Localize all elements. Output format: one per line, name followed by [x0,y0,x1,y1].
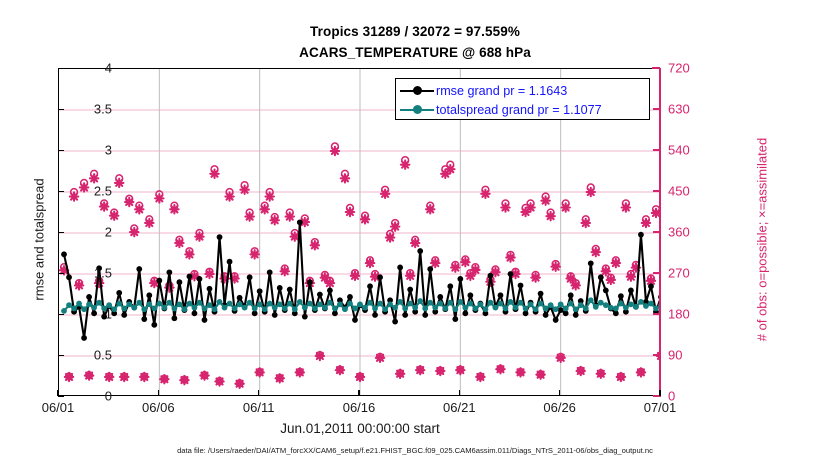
chart-title-line-1: Tropics 31289 / 32072 = 97.559% [0,24,830,39]
y-tick-mark-right [653,272,660,274]
y-tick-left-1.5: 1.5 [94,266,112,281]
y-tick-right-360: 360 [668,225,690,240]
y-tick-right-90: 90 [668,348,682,363]
y-tick-mark-left [58,396,64,397]
chart-figure: Tropics 31289 / 32072 = 97.559% ACARS_TE… [0,0,830,470]
y-tick-mark-left [58,150,64,151]
y-tick-mark-right [653,108,660,110]
y-tick-left-2.5: 2.5 [94,184,112,199]
y-tick-mark-right [653,67,660,69]
x-tick-07-01: 07/01 [644,400,677,415]
y-tick-right-450: 450 [668,184,690,199]
x-tick-06-06: 06/06 [142,400,175,415]
legend-item-totalspread[interactable]: totalspread grand pr = 1.1077 [400,100,602,119]
x-tick-mark [559,390,560,396]
x-tick-mark [57,390,58,396]
y-tick-right-540: 540 [668,143,690,158]
legend-label: rmse grand pr = 1.1643 [434,84,567,98]
x-tick-mark [258,390,259,396]
x-tick-mark [659,390,660,396]
y-tick-left-2: 2 [105,225,112,240]
y-tick-mark-left [58,68,64,69]
y-tick-mark-left [58,109,64,110]
y-tick-left-4: 4 [105,61,112,76]
y-tick-mark-right [653,313,660,315]
x-axis-label: Jun.01,2011 00:00:00 start [0,421,720,436]
y-axis-left-label: rmse and totalspread [32,115,47,365]
y-tick-mark-right [653,149,660,151]
y-tick-left-1: 1 [105,307,112,322]
y-tick-right-630: 630 [668,102,690,117]
x-tick-mark [459,390,460,396]
y-tick-right-720: 720 [668,61,690,76]
x-tick-06-01: 06/01 [42,400,75,415]
chart-title-line-2: ACARS_TEMPERATURE @ 688 hPa [0,45,830,60]
y-tick-left-0.5: 0.5 [94,348,112,363]
y-tick-left-0: 0 [105,389,112,404]
y-tick-right-180: 180 [668,307,690,322]
legend-item-rmse[interactable]: rmse grand pr = 1.1643 [400,81,567,100]
y-tick-right-270: 270 [668,266,690,281]
y-tick-mark-right [653,231,660,233]
legend-marker-icon [400,103,434,117]
x-tick-06-26: 06/26 [543,400,576,415]
y-tick-mark-left [58,355,64,356]
x-tick-06-11: 06/11 [243,400,275,415]
y-tick-left-3: 3 [105,143,112,158]
x-tick-mark [158,390,159,396]
y-tick-mark-left [58,273,64,274]
y-tick-mark-right [653,354,660,356]
x-tick-06-16: 06/16 [343,400,376,415]
x-tick-mark [358,390,359,396]
y-tick-left-3.5: 3.5 [94,102,112,117]
legend-marker-icon [400,84,434,98]
legend-label: totalspread grand pr = 1.1077 [434,103,602,117]
y-tick-mark-right [653,190,660,192]
y-tick-mark-left [58,314,64,315]
y-tick-mark-left [58,232,64,233]
data-file-caption: data file: /Users/raeder/DAI/ATM_forcXX/… [0,446,830,455]
chart-legend: rmse grand pr = 1.1643totalspread grand … [395,78,650,120]
y-axis-right-label: # of obs: o=possible; ×=assimilated [755,95,770,385]
x-tick-06-21: 06/21 [443,400,476,415]
y-tick-mark-left [58,191,64,192]
